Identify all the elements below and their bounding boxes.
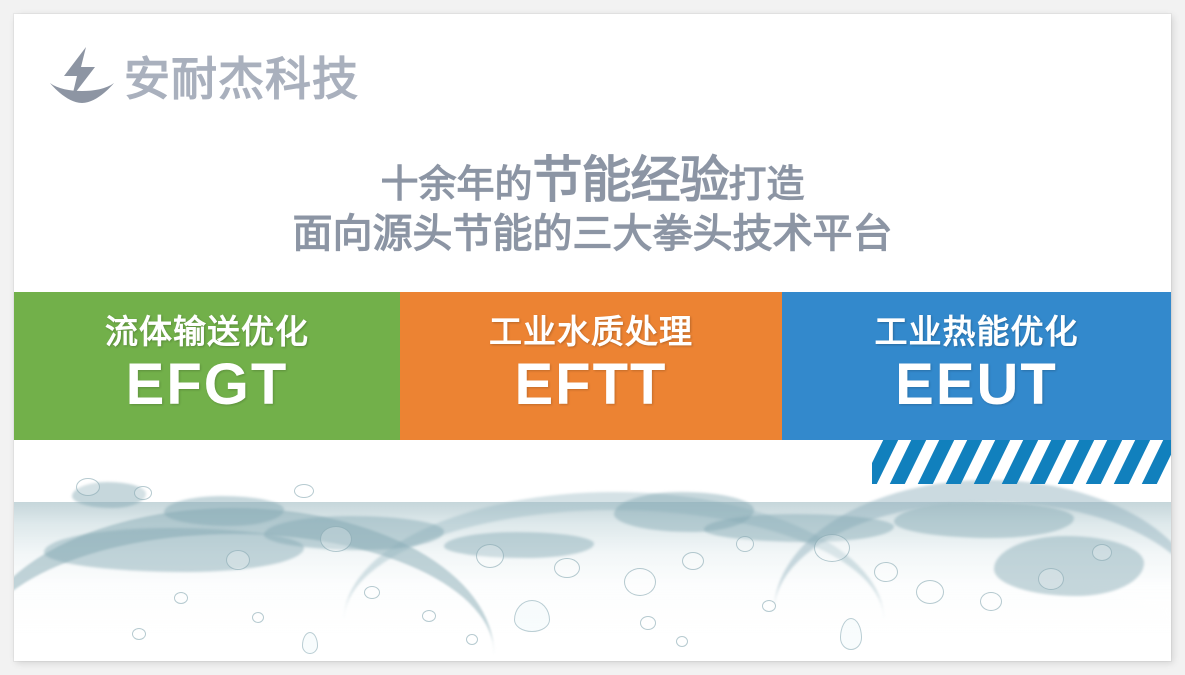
- platform-name-efgt: 流体输送优化: [105, 314, 309, 350]
- bubble: [1092, 544, 1112, 561]
- bubble: [916, 580, 944, 604]
- bubble: [762, 600, 776, 612]
- bubble: [736, 536, 754, 552]
- bubble: [682, 552, 704, 570]
- splash-blob: [704, 514, 894, 542]
- platform-card-efgt[interactable]: 流体输送优化 EFGT: [14, 292, 400, 440]
- headline-line-1: 十余年的节能经验打造: [14, 154, 1171, 207]
- bubble: [874, 562, 898, 582]
- bubble: [624, 568, 656, 596]
- bubble: [320, 526, 352, 552]
- droplet: [840, 618, 862, 650]
- platform-code-eftt: EFTT: [515, 353, 668, 418]
- headline-block: 十余年的节能经验打造 面向源头节能的三大拳头技术平台: [14, 154, 1171, 255]
- splash-blob: [894, 502, 1074, 538]
- splash-blob: [994, 536, 1144, 596]
- splash-blob: [444, 532, 594, 558]
- bubble: [134, 486, 152, 500]
- platform-card-eftt[interactable]: 工业水质处理 EFTT: [400, 292, 782, 440]
- bubble: [640, 616, 656, 630]
- headline-line-2: 面向源头节能的三大拳头技术平台: [14, 213, 1171, 255]
- platform-card-eeut[interactable]: 工业热能优化 EEUT: [782, 292, 1171, 440]
- bubble: [364, 586, 380, 599]
- bubble: [814, 534, 850, 562]
- splash-blob: [164, 496, 284, 526]
- bubble: [226, 550, 250, 570]
- droplet: [302, 632, 318, 654]
- headline-line1-emphasis: 节能经验: [533, 152, 729, 208]
- platform-bars: 流体输送优化 EFGT 工业水质处理 EFTT 工业热能优化 EEUT: [14, 292, 1171, 440]
- platform-code-efgt: EFGT: [126, 353, 289, 418]
- splash-blob: [44, 528, 304, 572]
- bubble: [132, 628, 146, 640]
- lightning-bolt-over-curve-logo-icon: [46, 45, 118, 113]
- platform-name-eeut: 工业热能优化: [875, 314, 1079, 350]
- bubble: [174, 592, 188, 604]
- bubble: [980, 592, 1002, 611]
- droplet: [514, 600, 550, 632]
- platform-code-eeut: EEUT: [895, 353, 1058, 418]
- bubble: [252, 612, 264, 623]
- bubble: [554, 558, 580, 578]
- company-logo: 安耐杰科技: [46, 40, 359, 118]
- headline-line1-prefix: 十余年的: [380, 164, 532, 206]
- bubble: [466, 634, 478, 645]
- bubble: [1038, 568, 1064, 590]
- slide-canvas: 安耐杰科技 十余年的节能经验打造 面向源头节能的三大拳头技术平台 流体输送优化 …: [14, 14, 1171, 661]
- headline-line1-suffix: 打造: [729, 164, 805, 206]
- bubble: [676, 636, 688, 647]
- company-name: 安耐杰科技: [124, 56, 359, 102]
- bubble: [294, 484, 314, 498]
- platform-name-eftt: 工业水质处理: [489, 314, 693, 350]
- bubble: [76, 478, 100, 496]
- water-splash-photo: [14, 440, 1171, 661]
- bubble: [476, 544, 504, 568]
- bubble: [422, 610, 436, 622]
